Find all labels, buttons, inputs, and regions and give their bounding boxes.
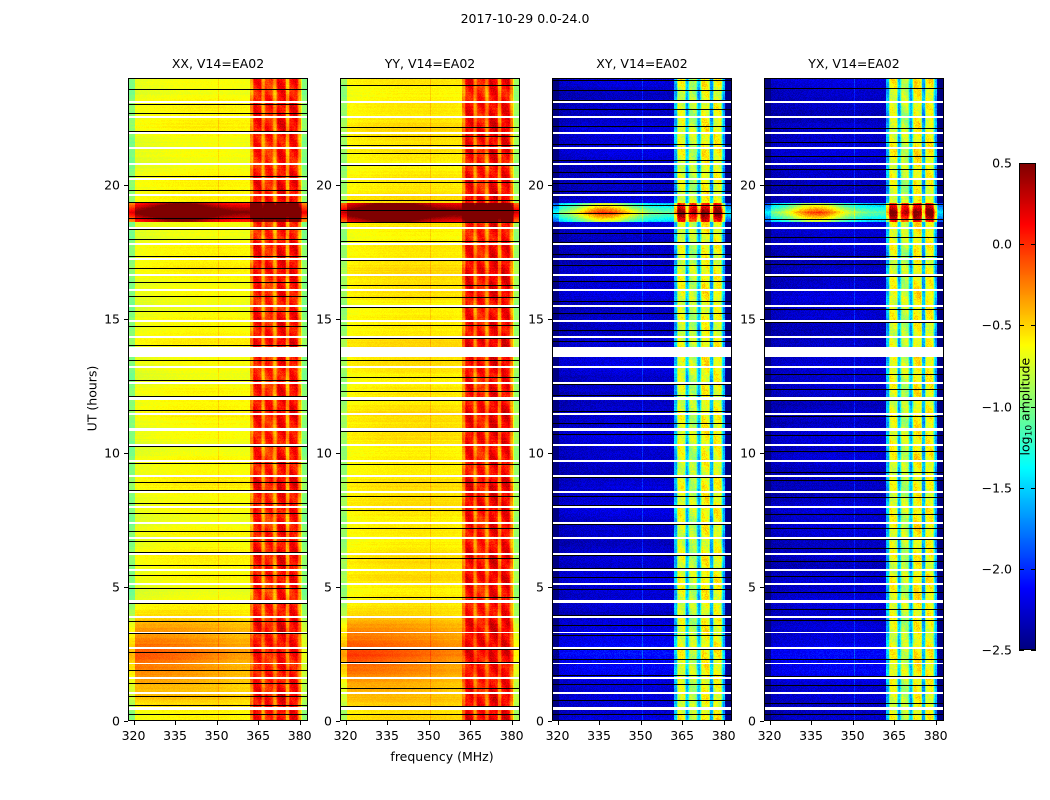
figure-suptitle: 2017-10-29 0.0-24.0 [0,11,1050,26]
x-tick-label: 335 [163,728,187,743]
x-tickmark [429,721,430,725]
y-tick-label: 20 [722,178,756,193]
x-tick-label: 350 [629,728,653,743]
x-tickmark [175,721,176,725]
colorbar-tick-label: −0.5 [969,318,1012,333]
y-tickmark [124,319,128,320]
spectrum-panel-yy[interactable]: YY, V14=EA0232033535036538005101520 [340,78,520,721]
x-tickmark [387,721,388,725]
y-tick-label: 5 [510,580,544,595]
x-tick-label: 365 [458,728,482,743]
x-tick-label: 365 [246,728,270,743]
x-tickmark [258,721,259,725]
y-tick-label: 0 [86,714,120,729]
colorbar-tick-label: −1.0 [969,399,1012,414]
y-tickmark [760,721,764,722]
y-tickmark [336,721,340,722]
spectrum-panel-xx[interactable]: XX, V14=EA0232033535036538005101520 [128,78,308,721]
y-tickmark [548,721,552,722]
y-tick-label: 0 [510,714,544,729]
colorbar-tickmark [1019,163,1024,164]
x-tickmark [470,721,471,725]
colorbar-tickmark-inner [1031,244,1036,245]
x-tick-label: 380 [500,728,524,743]
colorbar-tickmark-inner [1031,163,1036,164]
x-tick-label: 320 [758,728,782,743]
x-tickmark [641,721,642,725]
x-tick-label: 320 [546,728,570,743]
dynamic-spectrum-image [764,78,944,721]
y-tick-label: 15 [86,312,120,327]
dynamic-spectrum-image [552,78,732,721]
x-tick-label: 350 [417,728,441,743]
x-tick-label: 320 [334,728,358,743]
x-tick-label: 335 [587,728,611,743]
colorbar-tick-label: 0.0 [969,237,1012,252]
x-tick-label: 380 [712,728,736,743]
colorbar-tick-label: −2.0 [969,561,1012,576]
y-tickmark [548,453,552,454]
y-tickmark [548,319,552,320]
colorbar-label-prefix: log [1017,436,1032,455]
y-tick-label: 20 [86,178,120,193]
panel-title: XX, V14=EA02 [128,56,308,71]
y-tickmark [336,319,340,320]
y-tickmark [760,587,764,588]
colorbar-tickmark-inner [1031,650,1036,651]
x-axis-label: frequency (MHz) [390,749,493,764]
y-tickmark [336,587,340,588]
y-tickmark [760,319,764,320]
x-tickmark [346,721,347,725]
y-tickmark [336,453,340,454]
y-tick-label: 5 [86,580,120,595]
x-tick-label: 350 [205,728,229,743]
y-tick-label: 0 [722,714,756,729]
y-tick-label: 10 [510,446,544,461]
x-tickmark [134,721,135,725]
colorbar-axis-label: log10 amplitude [1017,336,1034,476]
panel-title: XY, V14=EA02 [552,56,732,71]
y-tick-label: 20 [298,178,332,193]
colorbar-tickmark-inner [1031,488,1036,489]
x-tick-label: 320 [122,728,146,743]
colorbar-tickmark [1019,325,1024,326]
x-tick-label: 335 [799,728,823,743]
panel-title: YY, V14=EA02 [340,56,520,71]
x-tick-label: 380 [924,728,948,743]
y-tickmark [760,453,764,454]
x-tickmark [894,721,895,725]
y-tickmark [124,185,128,186]
y-tick-label: 5 [722,580,756,595]
colorbar-tickmark [1019,244,1024,245]
y-tickmark [336,185,340,186]
colorbar-tickmark-inner [1031,569,1036,570]
y-tickmark [760,185,764,186]
x-tick-label: 365 [882,728,906,743]
y-tickmark [124,721,128,722]
x-tickmark [853,721,854,725]
colorbar-tick-label: −2.5 [969,643,1012,658]
dynamic-spectrum-image [128,78,308,721]
colorbar-tickmark [1019,569,1024,570]
x-tick-label: 335 [375,728,399,743]
x-tickmark [558,721,559,725]
y-tickmark [124,587,128,588]
colorbar-tickmark [1019,488,1024,489]
y-tickmark [548,587,552,588]
x-tickmark [682,721,683,725]
dynamic-spectrum-image [340,78,520,721]
y-tick-label: 10 [298,446,332,461]
figure-canvas-area: 2017-10-29 0.0-24.0 XX, V14=EA0232033535… [0,0,1050,800]
colorbar-label-subscript: 10 [1025,424,1035,435]
colorbar-tick-label: −1.5 [969,480,1012,495]
y-tick-label: 15 [722,312,756,327]
y-tick-label: 15 [510,312,544,327]
y-axis-label: UT (hours) [85,338,100,458]
x-tickmark [217,721,218,725]
colorbar-tickmark [1019,650,1024,651]
y-tick-label: 20 [510,178,544,193]
spectrum-panel-yx[interactable]: YX, V14=EA0232033535036538005101520 [764,78,944,721]
x-tickmark [770,721,771,725]
y-tick-label: 15 [298,312,332,327]
colorbar-label-suffix: amplitude [1017,357,1032,424]
x-tickmark [811,721,812,725]
panel-title: YX, V14=EA02 [764,56,944,71]
x-tick-label: 350 [841,728,865,743]
y-tick-label: 10 [722,446,756,461]
y-tickmark [124,453,128,454]
y-tick-label: 0 [298,714,332,729]
colorbar-tick-label: 0.5 [969,156,1012,171]
x-tickmark [936,721,937,725]
x-tickmark [599,721,600,725]
y-tick-label: 5 [298,580,332,595]
x-tick-label: 365 [670,728,694,743]
spectrum-panel-xy[interactable]: XY, V14=EA0232033535036538005101520 [552,78,732,721]
x-tick-label: 380 [288,728,312,743]
colorbar-tickmark-inner [1031,325,1036,326]
y-tickmark [548,185,552,186]
